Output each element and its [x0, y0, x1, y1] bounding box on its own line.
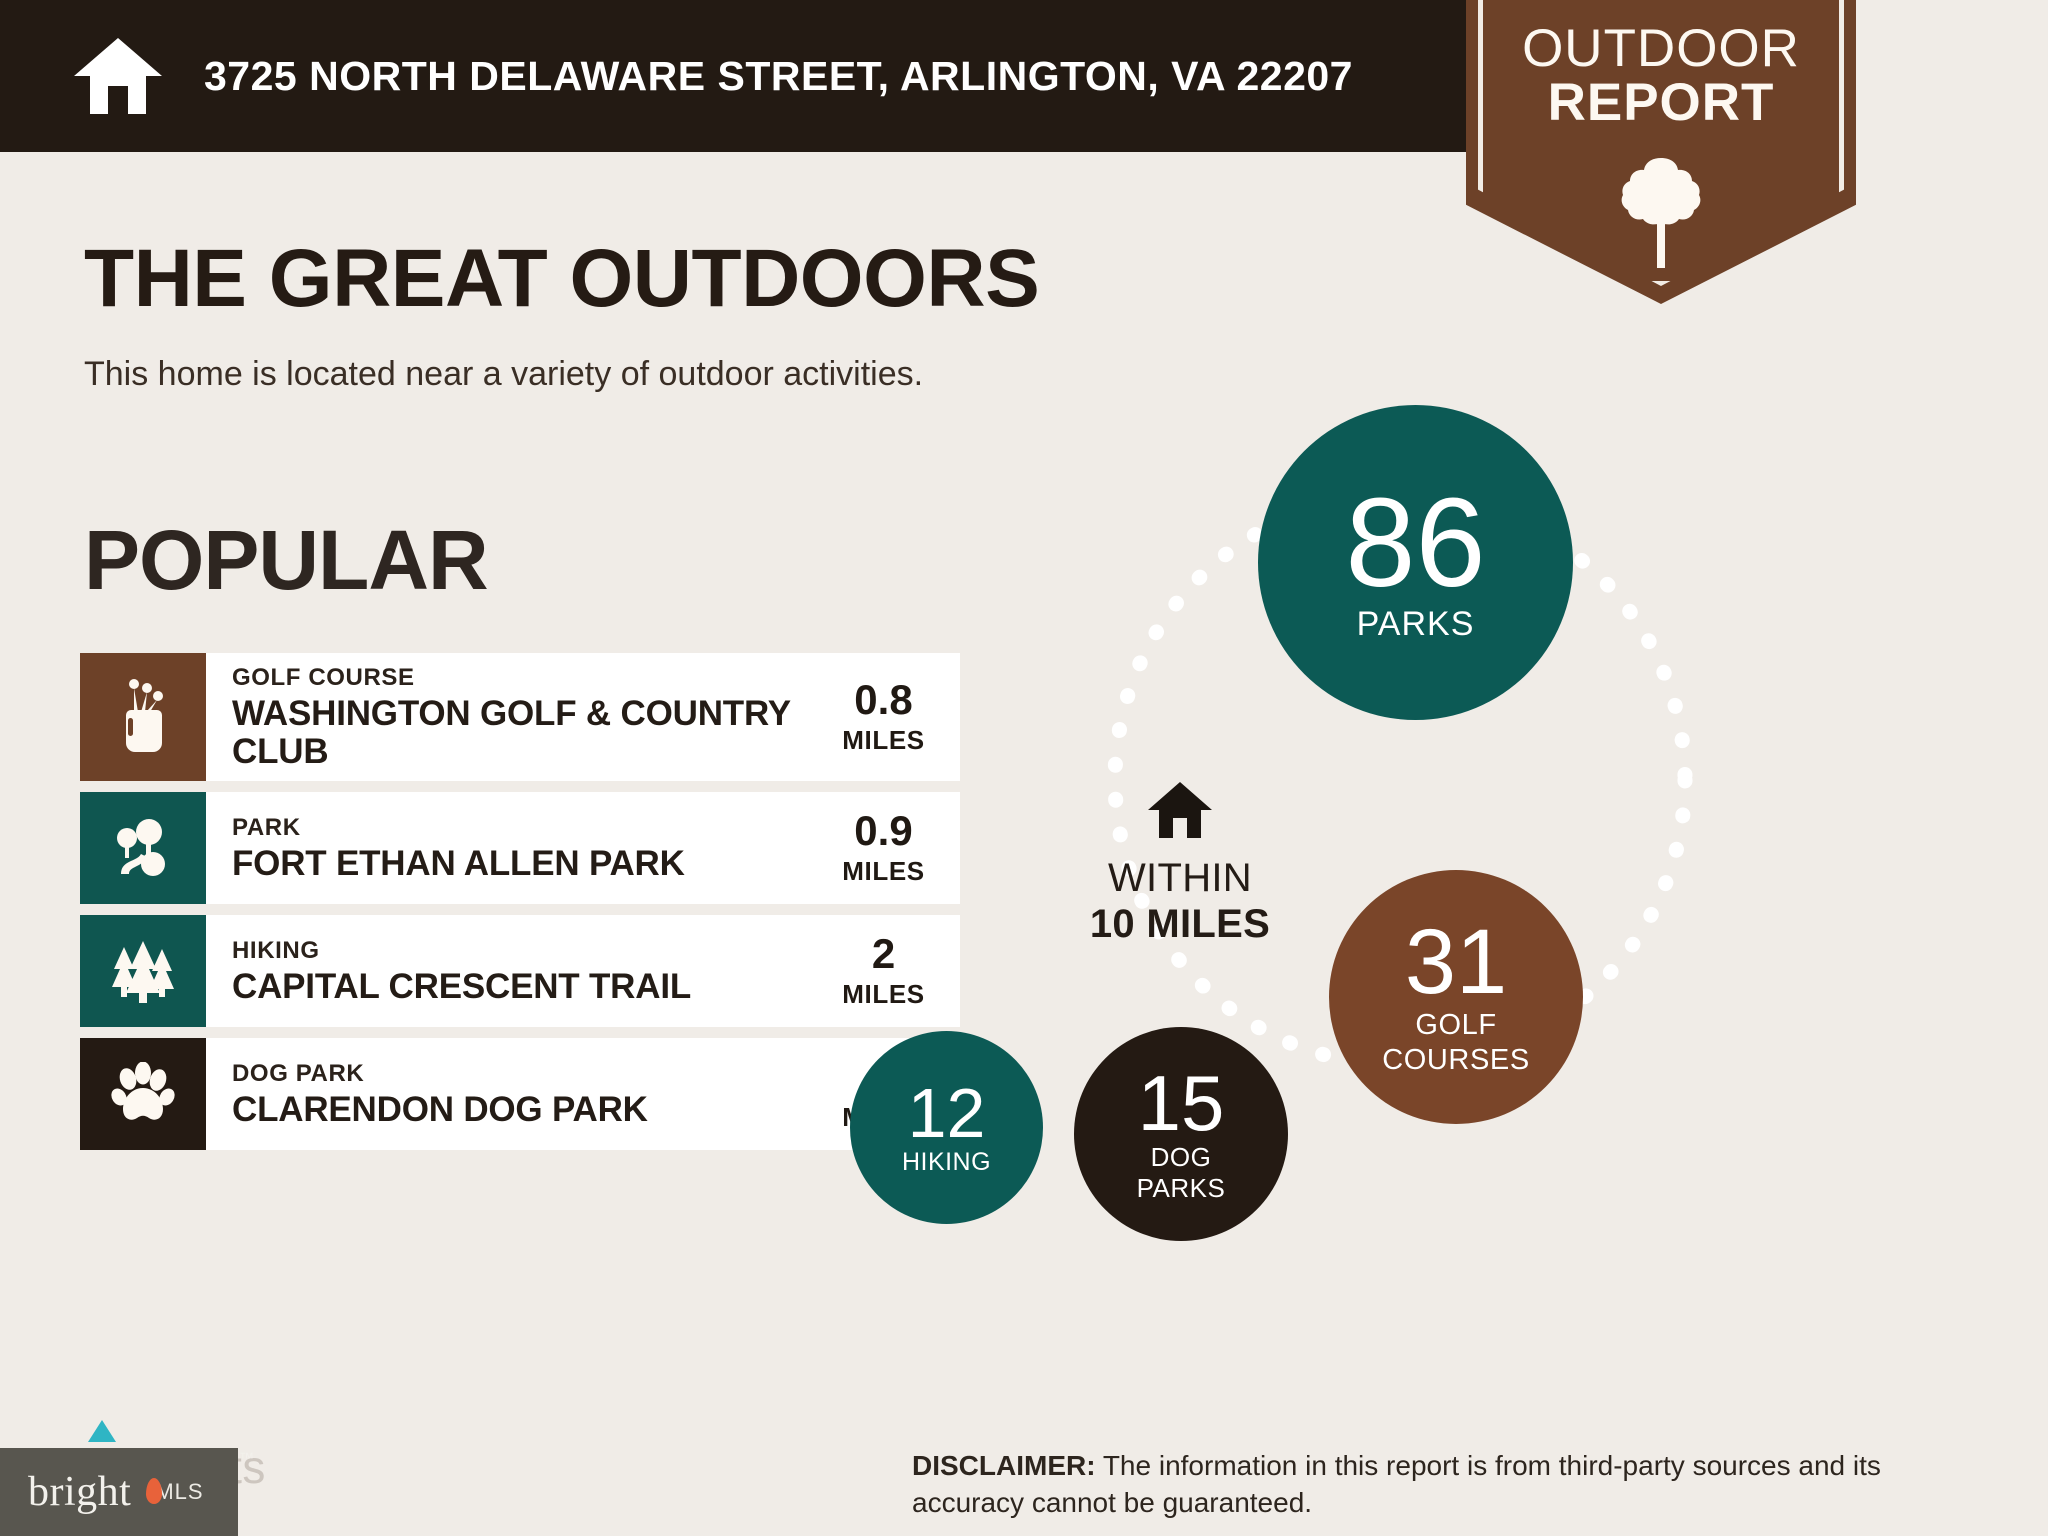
paw-print-icon — [111, 1062, 175, 1126]
poi-category: DOG PARK — [232, 1059, 825, 1089]
park-trees-icon — [111, 816, 175, 880]
bright-mls-logo: bright ™ MLS — [0, 1448, 238, 1536]
poi-icon-tile — [80, 915, 206, 1027]
golf-bag-icon — [112, 678, 174, 756]
stat-label: HIKING — [902, 1149, 991, 1175]
stat-value: 12 — [908, 1080, 986, 1147]
stat-bubble-hiking[interactable]: 12 HIKING — [850, 1031, 1043, 1224]
poi-text: DOG PARK CLARENDON DOG PARK — [206, 1038, 825, 1150]
list-item[interactable]: HIKING CAPITAL CRESCENT TRAIL 2 MILES — [80, 915, 960, 1027]
poi-distance: 2 MILES — [825, 915, 960, 1027]
poi-text: GOLF COURSE WASHINGTON GOLF & COUNTRY CL… — [206, 653, 825, 781]
badge-title-line1: OUTDOOR — [1522, 22, 1800, 76]
bright-logo-triangle-icon — [88, 1420, 116, 1442]
poi-category: PARK — [232, 813, 825, 843]
stat-bubble-golf-courses[interactable]: 31 GOLF COURSES — [1329, 870, 1583, 1124]
poi-text: HIKING CAPITAL CRESCENT TRAIL — [206, 915, 825, 1027]
poi-icon-tile — [80, 653, 206, 781]
center-radius-marker: WITHIN 10 MILES — [1015, 780, 1345, 947]
poi-distance-value: 2 — [872, 933, 895, 975]
stat-label-line1: GOLF — [1415, 1010, 1496, 1040]
stat-value: 15 — [1138, 1066, 1225, 1140]
outdoor-report-badge: OUTDOOR REPORT — [1466, 0, 1856, 304]
stat-bubble-parks[interactable]: 86 PARKS — [1258, 405, 1573, 720]
poi-distance-unit: MILES — [842, 725, 924, 756]
poi-distance: 0.8 MILES — [825, 653, 960, 781]
within-label-line2: 10 MILES — [1090, 901, 1270, 947]
bright-logo-tm: ™ — [239, 1450, 254, 1467]
stat-bubble-dog-parks[interactable]: 15 DOG PARKS — [1074, 1027, 1288, 1241]
page-title: THE GREAT OUTDOORS — [84, 232, 1039, 326]
poi-name: WASHINGTON GOLF & COUNTRY CLUB — [232, 695, 825, 772]
stat-value: 31 — [1405, 919, 1507, 1006]
within-label-line1: WITHIN — [1108, 856, 1252, 901]
poi-icon-tile — [80, 1038, 206, 1150]
bright-logo-droplet-icon — [146, 1478, 162, 1504]
poi-name: FORT ETHAN ALLEN PARK — [232, 845, 825, 884]
pine-trees-icon — [108, 939, 178, 1003]
tree-icon — [1619, 154, 1703, 270]
stat-value: 86 — [1345, 483, 1485, 603]
list-item[interactable]: DOG PARK CLARENDON DOG PARK 3 MILES — [80, 1038, 960, 1150]
amenities-bubble-chart: 86 PARKS 31 GOLF COURSES 15 DOG PARKS 12… — [1090, 470, 1990, 1300]
stat-label-line2: PARKS — [1137, 1175, 1226, 1202]
disclaimer: DISCLAIMER: The information in this repo… — [912, 1448, 1982, 1522]
house-icon — [1146, 780, 1214, 840]
poi-text: PARK FORT ETHAN ALLEN PARK — [206, 792, 825, 904]
bright-logo-mls: MLS — [155, 1479, 203, 1505]
poi-distance-value: 0.8 — [854, 679, 912, 721]
poi-name: CLARENDON DOG PARK — [232, 1091, 825, 1130]
poi-name: CAPITAL CRESCENT TRAIL — [232, 968, 825, 1007]
header-bar: 3725 NORTH DELAWARE STREET, ARLINGTON, V… — [0, 0, 1474, 152]
list-item[interactable]: PARK FORT ETHAN ALLEN PARK 0.9 MILES — [80, 792, 960, 904]
poi-icon-tile — [80, 792, 206, 904]
property-address: 3725 NORTH DELAWARE STREET, ARLINGTON, V… — [204, 53, 1353, 100]
poi-distance-unit: MILES — [842, 856, 924, 887]
poi-category: HIKING — [232, 936, 825, 966]
stat-label-line2: COURSES — [1382, 1045, 1530, 1075]
poi-distance-value: 0.9 — [854, 810, 912, 852]
disclaimer-label: DISCLAIMER: — [912, 1450, 1096, 1481]
poi-distance: 0.9 MILES — [825, 792, 960, 904]
page-subtitle: This home is located near a variety of o… — [84, 355, 923, 394]
bright-logo-word: bright — [28, 1468, 131, 1516]
stat-label-line1: DOG — [1151, 1144, 1212, 1171]
stat-label: PARKS — [1357, 607, 1475, 643]
badge-title-line2: REPORT — [1548, 76, 1775, 130]
poi-distance-unit: MILES — [842, 979, 924, 1010]
poi-category: GOLF COURSE — [232, 663, 825, 693]
house-icon — [72, 36, 164, 116]
list-item[interactable]: GOLF COURSE WASHINGTON GOLF & COUNTRY CL… — [80, 653, 960, 781]
popular-heading: POPULAR — [84, 512, 488, 609]
popular-list: GOLF COURSE WASHINGTON GOLF & COUNTRY CL… — [80, 653, 960, 1161]
